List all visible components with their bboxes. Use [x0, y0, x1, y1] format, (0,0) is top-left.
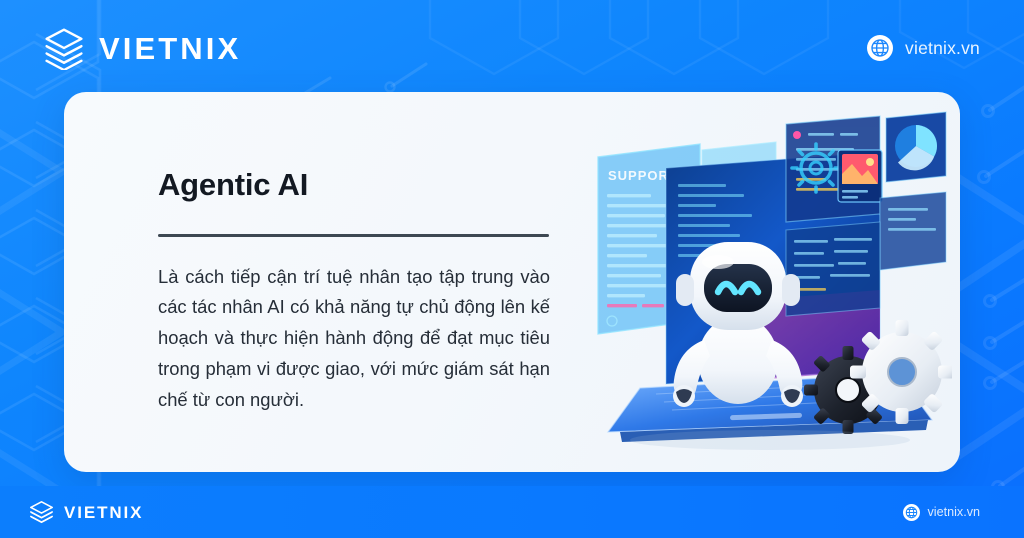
website-url: vietnix.vn [905, 38, 980, 59]
globe-icon [903, 504, 920, 521]
footer-brand[interactable]: VIETNIX [28, 499, 143, 526]
header-brand[interactable]: VIETNIX [42, 26, 241, 70]
content-card: Agentic AI Là cách tiếp cận trí tuệ nhân… [64, 92, 960, 472]
footer-website-url: vietnix.vn [928, 505, 981, 519]
holo-panel-right-bottom [880, 192, 946, 270]
stacked-layers-icon [42, 26, 86, 70]
header-bar: VIETNIX vietnix.vn [0, 0, 1024, 96]
card-text-column: Agentic AI Là cách tiếp cận trí tuệ nhân… [64, 92, 564, 472]
footer-brand-name: VIETNIX [64, 504, 143, 521]
brand-name: VIETNIX [99, 33, 241, 64]
illustration: SUPPORT [580, 102, 952, 462]
footer-bar: VIETNIX vietnix.vn [0, 486, 1024, 538]
banner: VIETNIX vietnix.vn Agentic AI [0, 0, 1024, 538]
pie-chart-icon [886, 112, 946, 182]
image-thumbnail-icon [838, 150, 882, 202]
page-title: Agentic AI [158, 168, 564, 202]
gear-icon [850, 320, 952, 424]
globe-icon [867, 35, 893, 61]
description-text: Là cách tiếp cận trí tuệ nhân tạo tập tr… [158, 262, 550, 416]
footer-website-link[interactable]: vietnix.vn [903, 504, 981, 521]
title-divider [158, 234, 549, 237]
stacked-layers-icon [28, 499, 55, 526]
header-website-link[interactable]: vietnix.vn [867, 35, 980, 61]
holo-table-panel [786, 222, 880, 316]
